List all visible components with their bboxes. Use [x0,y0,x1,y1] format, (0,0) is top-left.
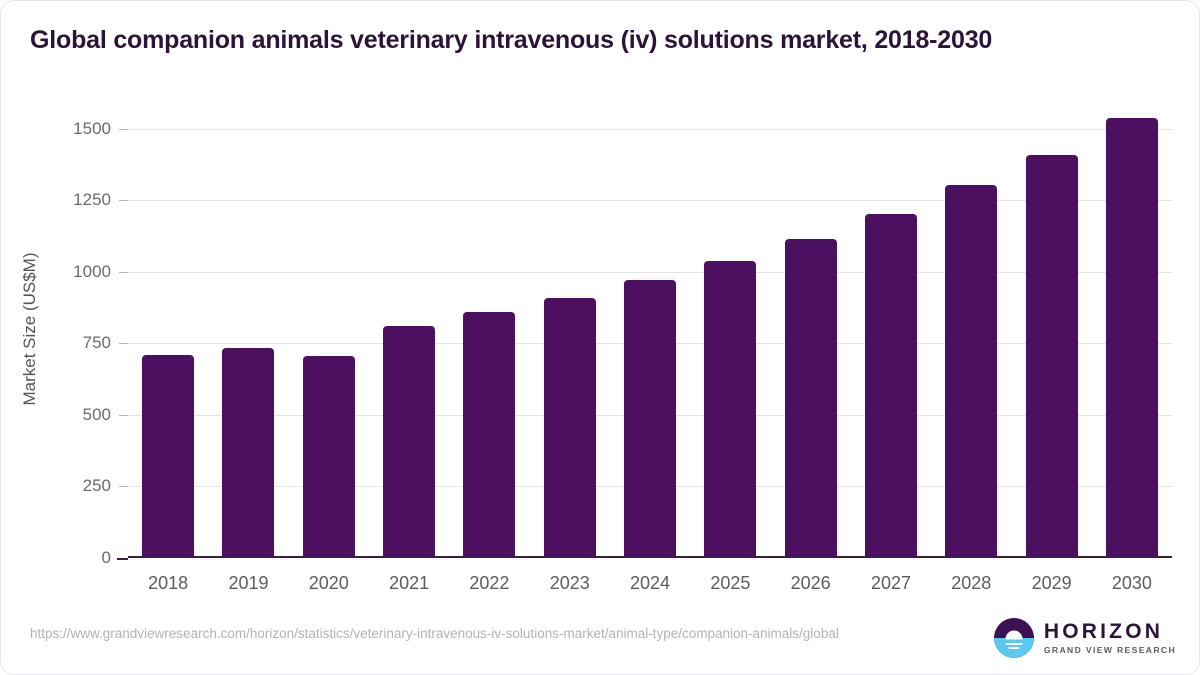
x-tick-label: 2029 [1032,573,1072,594]
y-tick-label: 0 [102,548,111,568]
logo-name: HORIZON [1044,621,1176,642]
bar-slot: 2019 [208,100,288,558]
bar[interactable] [624,280,676,558]
y-tick-label: 500 [83,405,111,425]
y-axis-title: Market Size (US$M) [20,252,40,405]
x-tick-label: 2023 [550,573,590,594]
y-tick-label: 1500 [73,119,111,139]
bar[interactable] [142,355,194,558]
horizon-logo[interactable]: HORIZON GRAND VIEW RESEARCH [994,618,1176,658]
y-tick-mark [119,129,128,130]
bar-slot: 2023 [530,100,610,558]
bar[interactable] [1026,155,1078,558]
bar-slot: 2025 [690,100,770,558]
x-tick-label: 2021 [389,573,429,594]
y-tick-label: 1000 [73,262,111,282]
logo-ray-lower [1008,647,1019,649]
logo-ray-upper [1005,643,1022,645]
bar[interactable] [785,239,837,558]
y-tick-mark [119,415,128,416]
bar[interactable] [303,356,355,558]
chart-card: Global companion animals veterinary intr… [0,0,1200,675]
x-tick-label: 2028 [951,573,991,594]
bar[interactable] [383,326,435,558]
x-tick-label: 2026 [791,573,831,594]
bar[interactable] [222,348,274,558]
y-tick-mark [119,343,128,344]
bar-slot: 2028 [931,100,1011,558]
x-tick-label: 2027 [871,573,911,594]
y-tick-mark [119,200,128,201]
chart-canvas: Market Size (US$M) 025050075010001250150… [0,0,1200,675]
bar-slot: 2027 [851,100,931,558]
y-tick-label: 250 [83,476,111,496]
plot-area: 0250500750100012501500 20182019202020212… [128,100,1172,558]
bar-slot: 2024 [610,100,690,558]
bar-slot: 2029 [1011,100,1091,558]
y-tick-label: 1250 [73,190,111,210]
bar-slot: 2020 [289,100,369,558]
bar-slot: 2018 [128,100,208,558]
bar[interactable] [1106,118,1158,558]
y-tick-mark [119,272,128,273]
bar-slot: 2026 [771,100,851,558]
bar[interactable] [865,214,917,558]
bar-slot: 2021 [369,100,449,558]
x-tick-label: 2020 [309,573,349,594]
x-tick-label: 2019 [228,573,268,594]
bar[interactable] [704,261,756,558]
x-tick-label: 2018 [148,573,188,594]
bar-slot: 2022 [449,100,529,558]
logo-text-block: HORIZON GRAND VIEW RESEARCH [1044,621,1176,655]
logo-tagline: GRAND VIEW RESEARCH [1044,646,1176,655]
y-tick-label: 750 [83,333,111,353]
logo-sun-shape [1005,630,1022,639]
x-tick-label: 2022 [469,573,509,594]
x-tick-label: 2024 [630,573,670,594]
bar-slot: 2030 [1092,100,1172,558]
x-tick-label: 2025 [710,573,750,594]
x-tick-label: 2030 [1112,573,1152,594]
y-tick-mark [119,486,128,487]
horizon-sun-circle-icon [994,618,1034,658]
bar[interactable] [544,298,596,558]
bar[interactable] [945,185,997,558]
footer: https://www.grandviewresearch.com/horizo… [30,624,960,645]
source-url[interactable]: https://www.grandviewresearch.com/horizo… [30,624,960,645]
y-tick-mark [117,558,128,560]
bar[interactable] [463,312,515,558]
bars-group: 2018201920202021202220232024202520262027… [128,100,1172,558]
